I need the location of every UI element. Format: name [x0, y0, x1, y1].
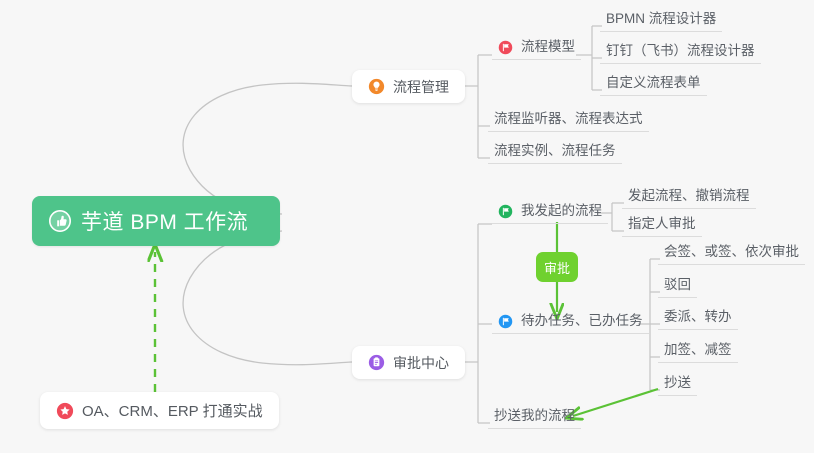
- node-delegate-transfer[interactable]: 委派、转办: [658, 308, 738, 330]
- node-bpmn-designer-label: BPMN 流程设计器: [606, 10, 716, 27]
- root-node-label: 芋道 BPM 工作流: [81, 206, 248, 236]
- root-node[interactable]: 芋道 BPM 工作流: [32, 196, 280, 246]
- node-reject[interactable]: 驳回: [658, 276, 697, 298]
- node-cc-to-me-process-label: 抄送我的流程: [494, 407, 575, 424]
- node-add-remove-sign[interactable]: 加签、减签: [658, 341, 738, 363]
- node-approval-center[interactable]: 审批中心: [352, 346, 465, 379]
- node-start-cancel-process-label: 发起流程、撤销流程: [628, 187, 750, 204]
- node-approval-center-label: 审批中心: [393, 353, 449, 373]
- node-start-cancel-process[interactable]: 发起流程、撤销流程: [622, 187, 756, 209]
- node-cc-to-me-process[interactable]: 抄送我的流程: [488, 407, 581, 429]
- flag-icon: [498, 204, 513, 219]
- node-my-initiated-process[interactable]: 我发起的流程: [492, 202, 608, 224]
- node-process-instance-task[interactable]: 流程实例、流程任务: [488, 142, 622, 164]
- node-process-management-label: 流程管理: [393, 77, 449, 97]
- node-delegate-transfer-label: 委派、转办: [664, 308, 732, 325]
- node-assignee-approval-label: 指定人审批: [628, 215, 696, 232]
- node-cc-label: 抄送: [664, 374, 691, 391]
- node-dingtalk-feishu-designer-label: 钉钉（飞书）流程设计器: [606, 42, 755, 59]
- star-icon: [56, 402, 74, 420]
- node-process-model-label: 流程模型: [521, 38, 575, 55]
- node-process-model[interactable]: 流程模型: [492, 38, 581, 60]
- approval-badge[interactable]: 审批: [536, 252, 578, 282]
- node-dingtalk-feishu-designer[interactable]: 钉钉（飞书）流程设计器: [600, 42, 761, 64]
- node-process-listener-expression-label: 流程监听器、流程表达式: [494, 110, 643, 127]
- node-countersign-orsign-sequential[interactable]: 会签、或签、依次审批: [658, 243, 805, 265]
- node-process-listener-expression[interactable]: 流程监听器、流程表达式: [488, 110, 649, 132]
- mindmap-canvas: 芋道 BPM 工作流 流程管理 审批中心: [0, 0, 814, 453]
- flag-icon: [498, 40, 513, 55]
- node-add-remove-sign-label: 加签、减签: [664, 341, 732, 358]
- arrow-cc-to-ccprocess: [573, 389, 658, 416]
- node-todo-done-tasks-label: 待办任务、已办任务: [521, 312, 643, 329]
- clipboard-icon: [368, 354, 385, 371]
- node-my-initiated-process-label: 我发起的流程: [521, 202, 602, 219]
- node-custom-process-form[interactable]: 自定义流程表单: [600, 74, 707, 96]
- node-oa-crm-erp-label: OA、CRM、ERP 打通实战: [82, 400, 263, 421]
- thumbs-up-icon: [48, 209, 72, 233]
- node-assignee-approval[interactable]: 指定人审批: [622, 215, 702, 237]
- node-custom-process-form-label: 自定义流程表单: [606, 74, 701, 91]
- node-process-instance-task-label: 流程实例、流程任务: [494, 142, 616, 159]
- edge-root-to-process-management: [183, 83, 352, 214]
- edge-root-to-approval-center: [183, 231, 352, 365]
- node-cc[interactable]: 抄送: [658, 374, 697, 396]
- node-oa-crm-erp[interactable]: OA、CRM、ERP 打通实战: [40, 392, 279, 429]
- node-todo-done-tasks[interactable]: 待办任务、已办任务: [492, 312, 649, 334]
- flag-icon: [498, 314, 513, 329]
- node-reject-label: 驳回: [664, 276, 691, 293]
- node-bpmn-designer[interactable]: BPMN 流程设计器: [600, 10, 722, 32]
- node-countersign-orsign-sequential-label: 会签、或签、依次审批: [664, 243, 799, 260]
- lightbulb-icon: [368, 78, 385, 95]
- approval-badge-label: 审批: [544, 258, 570, 277]
- node-process-management[interactable]: 流程管理: [352, 70, 465, 103]
